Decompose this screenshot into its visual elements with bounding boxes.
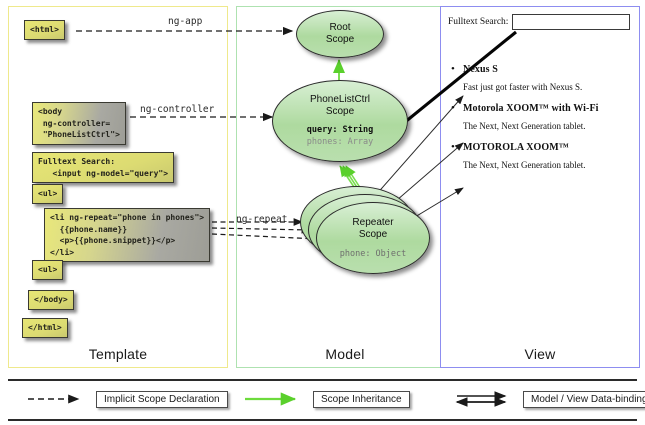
double-arrow-icon [453, 390, 515, 408]
phone-name: Nexus S [463, 64, 634, 75]
scope-ctrl-line1: PhoneListCtrl [310, 94, 370, 107]
column-label-template: Template [9, 346, 227, 362]
legend: Implicit Scope Declaration Scope Inherit… [8, 379, 637, 421]
scope-ctrl-prop-query: query: String [307, 125, 374, 137]
scope-phone-list-ctrl: PhoneListCtrl Scope query: String phones… [272, 80, 408, 162]
code-box-html-close: </html> [22, 318, 68, 338]
scope-ctrl-prop-phones: phones: Array [307, 137, 374, 149]
scope-root-line2: Scope [326, 34, 354, 47]
code-box-li-ng-repeat: <li ng-repeat="phone in phones"> {{phone… [44, 208, 210, 262]
list-item[interactable]: Nexus S Fast just got faster with Nexus … [448, 64, 634, 92]
code-box-body-open: <body ng-controller= "PhoneListCtrl"> [32, 102, 126, 145]
code-box-search-input: Fulltext Search: <input ng-model="query"… [32, 152, 174, 183]
legend-label-scope-inheritance: Scope Inheritance [313, 391, 410, 408]
scope-repeater-instance-1: Repeater Scope phone: Object [316, 202, 430, 274]
legend-item-implicit-scope: Implicit Scope Declaration [26, 390, 228, 408]
view-search-row: Fulltext Search: [448, 14, 634, 30]
scope-ctrl-line2: Scope [326, 106, 354, 119]
legend-item-data-binding: Model / View Data-binding [453, 390, 645, 408]
code-box-ul-open: <ul> [32, 184, 63, 204]
connector-label-ng-controller: ng-controller [140, 104, 214, 115]
code-box-html-open: <html> [24, 20, 65, 40]
code-box-body-close: </body> [28, 290, 74, 310]
phone-name: Motorola XOOM™ with Wi-Fi [463, 103, 634, 114]
connector-label-ng-app: ng-app [168, 16, 202, 27]
scope-repeater-prop-phone: phone: Object [340, 249, 407, 260]
list-item[interactable]: Motorola XOOM™ with Wi-Fi The Next, Next… [448, 103, 634, 131]
list-item[interactable]: MOTOROLA XOOM™ The Next, Next Generation… [448, 142, 634, 170]
scope-repeater-line2: Scope [359, 229, 387, 242]
column-label-model: Model [237, 346, 453, 362]
phone-snippet: The Next, Next Generation tablet. [463, 160, 634, 170]
legend-label-implicit-scope: Implicit Scope Declaration [96, 391, 228, 408]
dashed-arrow-icon [26, 390, 88, 408]
view-search-label: Fulltext Search: [448, 17, 508, 27]
legend-label-data-binding: Model / View Data-binding [523, 391, 645, 408]
phone-snippet: The Next, Next Generation tablet. [463, 121, 634, 131]
scope-root: Root Scope [296, 10, 384, 58]
green-arrow-icon [243, 390, 305, 408]
scope-repeater-line1: Repeater [352, 217, 393, 230]
phone-snippet: Fast just got faster with Nexus S. [463, 82, 634, 92]
view-phone-list: Nexus S Fast just got faster with Nexus … [448, 64, 634, 170]
view-pane: Fulltext Search: Nexus S Fast just got f… [448, 14, 634, 244]
fulltext-search-input[interactable] [512, 14, 630, 30]
column-label-view: View [441, 346, 639, 362]
diagram-canvas: Template Model View [0, 0, 645, 425]
legend-item-scope-inheritance: Scope Inheritance [243, 390, 410, 408]
phone-name: MOTOROLA XOOM™ [463, 142, 634, 153]
connector-label-ng-repeat: ng-repeat [236, 214, 287, 225]
code-box-ul-close: <ul> [32, 260, 63, 280]
scope-root-line1: Root [329, 22, 350, 35]
